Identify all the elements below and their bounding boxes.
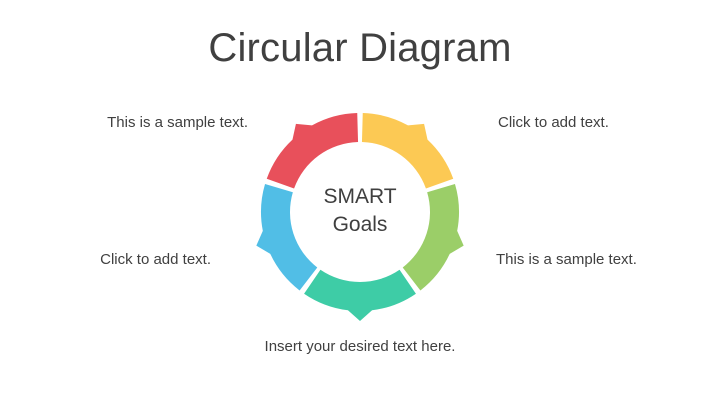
page-title: Circular Diagram [0,24,720,72]
center-label-line-1: SMART [290,183,430,211]
center-label: SMART Goals [290,183,430,239]
callout-bottom[interactable]: Insert your desired text here. [180,337,540,357]
callout-top-left[interactable]: This is a sample text. [0,113,248,133]
callout-top-right[interactable]: Click to add text. [498,113,720,133]
ring-segment-teal[interactable] [304,270,416,321]
slide-canvas: Circular Diagram SMART Goals This is a s… [0,0,720,405]
center-label-line-2: Goals [290,211,430,239]
callout-right[interactable]: This is a sample text. [496,250,720,270]
callout-left[interactable]: Click to add text. [0,250,211,270]
ring-segment-yellow[interactable] [362,113,453,188]
ring-segment-red[interactable] [267,113,358,188]
